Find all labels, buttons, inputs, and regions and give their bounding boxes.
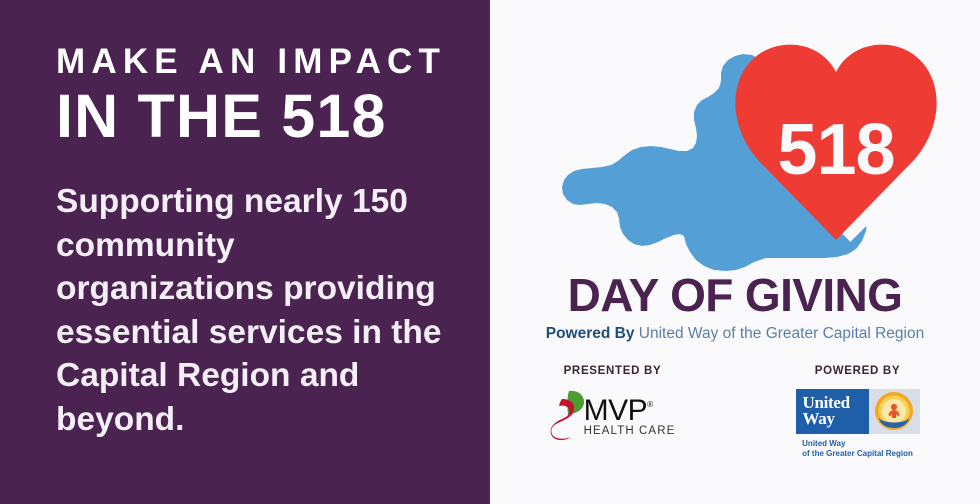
eyebrow-headline: MAKE AN IMPACT: [56, 44, 460, 79]
united-way-icon-wrap: [869, 389, 920, 434]
united-way-caption: United Way of the Greater Capital Region: [802, 439, 913, 459]
left-message-panel: MAKE AN IMPACT IN THE 518 Supporting nea…: [0, 0, 490, 504]
mvp-tagline: HEALTH CARE: [584, 425, 676, 437]
powered-by-label: POWERED BY: [815, 366, 901, 378]
united-way-logo: United Way: [796, 389, 920, 459]
united-way-rainbow-hand-icon: [874, 391, 914, 431]
mvp-apple-icon: [550, 389, 586, 441]
promo-banner: MAKE AN IMPACT IN THE 518 Supporting nea…: [0, 0, 980, 504]
lockup-title: DAY OF GIVING: [490, 272, 980, 318]
united-way-wordmark: United Way: [796, 389, 869, 434]
lockup-subtitle: Powered By United Way of the Greater Cap…: [490, 326, 980, 342]
sponsor-row: PRESENTED BY MVP® HEALTH CARE POWERED BY: [490, 366, 980, 486]
united-way-caption-line-1: United Way: [802, 439, 913, 449]
mvp-registered-mark: ®: [647, 400, 652, 409]
mvp-name: MVP®: [584, 397, 653, 425]
sponsor-mvp: PRESENTED BY MVP® HEALTH CARE: [490, 366, 735, 486]
mvp-name-text: MVP: [584, 394, 648, 427]
heart-number: 518: [777, 110, 894, 190]
mvp-wordmark: MVP® HEALTH CARE: [584, 389, 676, 438]
united-way-caption-line-2: of the Greater Capital Region: [802, 449, 913, 459]
powered-by-organization: United Way of the Greater Capital Region: [639, 325, 924, 342]
presented-by-label: PRESENTED BY: [564, 366, 662, 378]
right-logo-panel: 518 DAY OF GIVING Powered By United Way …: [490, 0, 980, 504]
main-headline: IN THE 518: [56, 85, 460, 147]
united-way-line-2: Way: [803, 411, 869, 427]
sponsor-united-way: POWERED BY United Way: [735, 366, 980, 486]
powered-by-prefix: Powered By: [546, 325, 635, 342]
supporting-copy: Supporting nearly 150 community organiza…: [56, 180, 460, 441]
day-of-giving-logo-art: 518: [504, 28, 966, 276]
mvp-logo: MVP® HEALTH CARE: [550, 389, 676, 441]
united-way-badge: United Way: [796, 389, 920, 434]
